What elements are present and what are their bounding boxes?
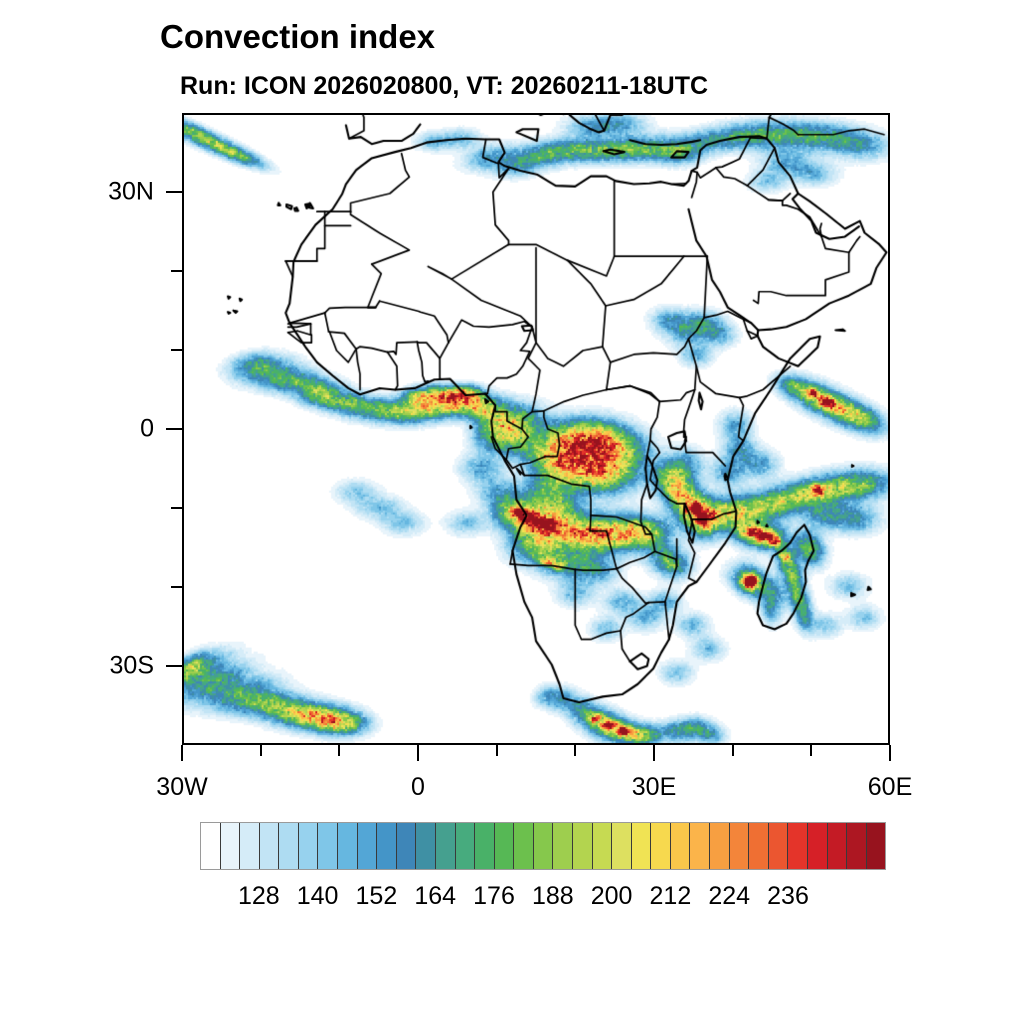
colorbar-band [358,823,378,869]
colorbar-band [749,823,769,869]
x-tick-minor [574,745,576,756]
colorbar-band [240,823,260,869]
y-tick-minor [171,507,182,509]
colorbar-band [632,823,652,869]
colorbar-tick-label: 188 [532,882,574,911]
colorbar-band [436,823,456,869]
colorbar-band [495,823,515,869]
x-tick-minor [732,745,734,756]
colorbar-band [279,823,299,869]
colorbar-band [828,823,848,869]
page-title: Convection index [160,18,435,56]
colorbar-tick-label: 236 [767,882,809,911]
colorbar-band [612,823,632,869]
x-axis-label: 60E [868,773,912,802]
colorbar-band [260,823,280,869]
colorbar-band [769,823,789,869]
x-axis-label: 30W [156,773,207,802]
y-tick-major [166,428,182,430]
colorbar-band [318,823,338,869]
colorbar-band [299,823,319,869]
x-tick-major [653,745,655,761]
colorbar-tick-label: 176 [473,882,515,911]
y-axis-label: 0 [0,415,154,444]
run-valid-time-subtitle: Run: ICON 2026020800, VT: 20260211-18UTC [180,72,708,101]
y-tick-minor [171,586,182,588]
colorbar-tick-label: 128 [238,882,280,911]
colorbar-band [201,823,221,869]
colorbar [200,822,886,870]
colorbar-band [651,823,671,869]
y-tick-major [166,665,182,667]
colorbar-tick-label: 164 [414,882,456,911]
colorbar-band [416,823,436,869]
colorbar-band [553,823,573,869]
x-tick-minor [260,745,262,756]
colorbar-tick-label: 200 [591,882,633,911]
colorbar-band [397,823,417,869]
colorbar-band [456,823,476,869]
colorbar-tick-label: 224 [708,882,750,911]
colorbar-band [671,823,691,869]
colorbar-band [593,823,613,869]
colorbar-band [730,823,750,869]
colorbar-band [221,823,241,869]
colorbar-band [710,823,730,869]
colorbar-band [808,823,828,869]
colorbar-band [867,823,886,869]
y-tick-minor [171,270,182,272]
x-tick-minor [810,745,812,756]
y-tick-minor [171,349,182,351]
x-tick-minor [338,745,340,756]
colorbar-band [475,823,495,869]
x-tick-minor [496,745,498,756]
x-tick-major [417,745,419,761]
map-plot-frame [182,113,890,745]
colorbar-band [847,823,867,869]
x-tick-major [181,745,183,761]
colorbar-tick-label: 152 [356,882,398,911]
color-scale-icon [200,822,886,870]
y-axis-label: 30S [0,652,154,681]
y-tick-major [166,191,182,193]
colorbar-tick-label: 140 [297,882,339,911]
x-axis-label: 30E [632,773,676,802]
convection-index-map [184,115,888,743]
x-axis-label: 0 [411,773,425,802]
colorbar-band [690,823,710,869]
colorbar-band [514,823,534,869]
colorbar-band [534,823,554,869]
colorbar-band [377,823,397,869]
x-tick-major [889,745,891,761]
colorbar-band [338,823,358,869]
colorbar-tick-label: 212 [650,882,692,911]
y-axis-label: 30N [0,178,154,207]
colorbar-band [573,823,593,869]
colorbar-band [788,823,808,869]
